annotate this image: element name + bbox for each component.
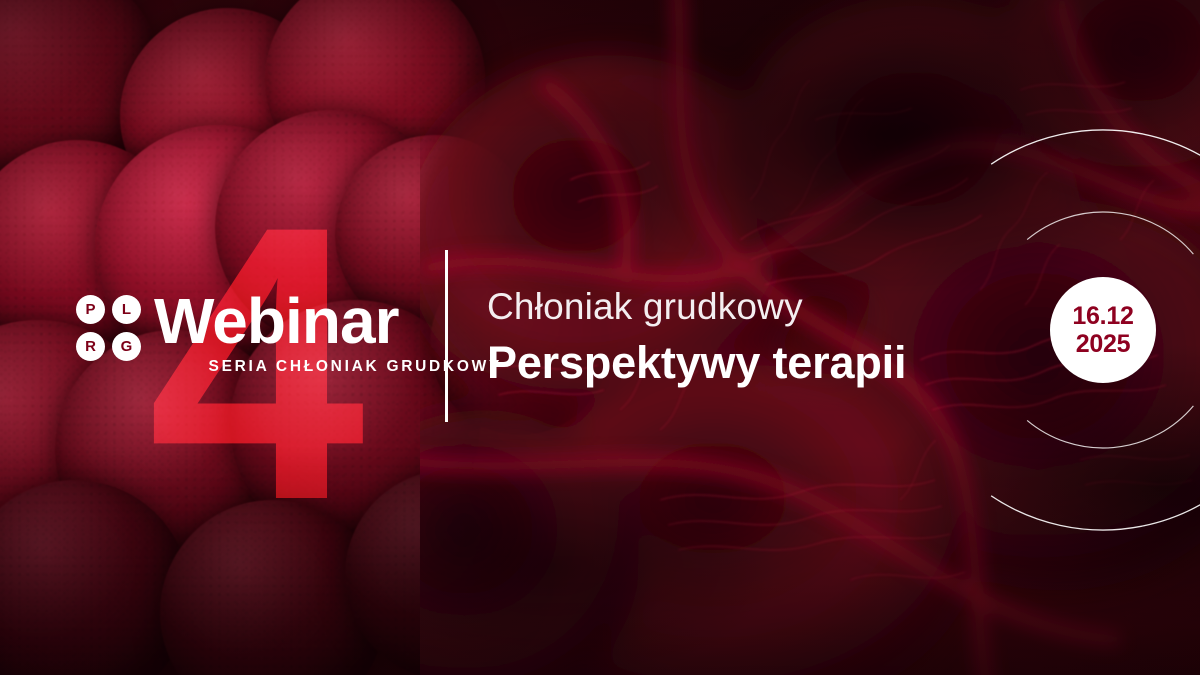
plrg-logo[interactable]: P L R G (76, 295, 142, 361)
event-subject: Chłoniak grudkowy (487, 285, 1067, 329)
date-badge: 16.12 2025 (1050, 277, 1156, 383)
wordmark-subtitle: SERIA CHŁONIAK GRUDKOWY (154, 358, 504, 376)
date-day-month: 16.12 (1072, 302, 1133, 330)
logo-letter-p: P (76, 295, 105, 324)
logo-letter-g: G (112, 332, 141, 361)
logo-letter-r: R (76, 332, 105, 361)
webinar-banner: 4 P L R G Webinar SERIA CHŁONIAK GRUDKOW… (0, 0, 1200, 675)
event-titles: Chłoniak grudkowy Perspektywy terapii (487, 285, 1067, 389)
vertical-divider (445, 250, 448, 422)
date-year: 2025 (1076, 330, 1131, 358)
event-headline: Perspektywy terapii (487, 337, 1067, 389)
wordmark-title: Webinar (154, 290, 504, 352)
wordmark: Webinar SERIA CHŁONIAK GRUDKOWY (154, 290, 504, 376)
logo-letter-l: L (112, 295, 141, 324)
